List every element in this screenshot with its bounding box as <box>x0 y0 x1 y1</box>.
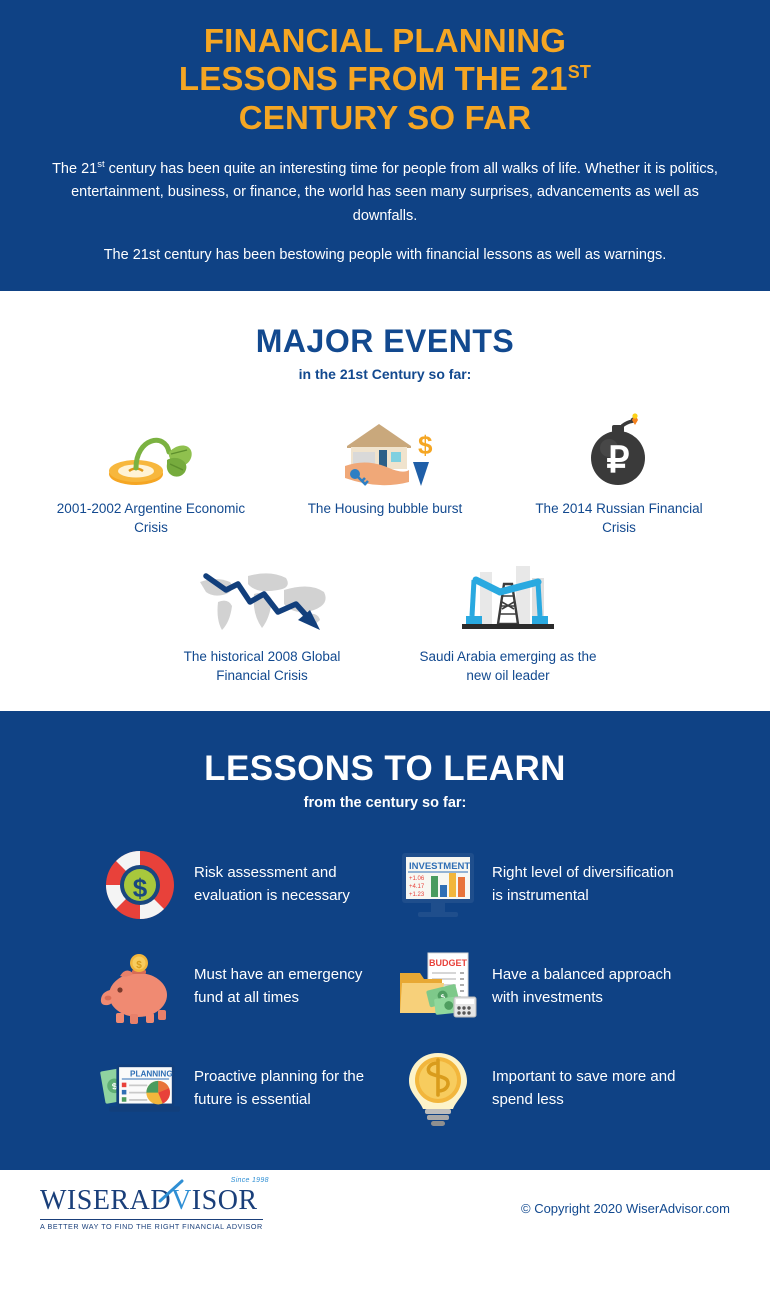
lesson-text: Important to save more and spend less <box>492 1066 680 1112</box>
lesson-item: $ Risk assessment and evaluation is nece… <box>100 845 382 925</box>
lifebuoy-dollar-icon: $ <box>100 845 180 925</box>
lesson-text: Right level of diversification is instru… <box>492 862 680 908</box>
event-item: 2001-2002 Argentine Economic Crisis <box>56 412 246 537</box>
logo-wiser-text: WISER <box>40 1185 130 1216</box>
major-events-row-2: The historical 2008 Global Financial Cri… <box>30 560 740 685</box>
svg-text:$: $ <box>136 960 142 971</box>
title-line-2-text: LESSONS FROM THE 21 <box>179 60 568 97</box>
house-dollar-icon: $ <box>333 412 437 490</box>
page-title: FINANCIAL PLANNING LESSONS FROM THE 21st… <box>40 22 730 137</box>
event-label: 2001-2002 Argentine Economic Crisis <box>56 499 246 537</box>
hero-paragraph-2: The 21st century has been bestowing peop… <box>40 244 730 267</box>
event-label: The Housing bubble burst <box>308 499 463 518</box>
event-label: The historical 2008 Global Financial Cri… <box>167 647 357 685</box>
event-item: ₽ The 2014 Russian Financial Crisis <box>524 412 714 537</box>
svg-text:₽: ₽ <box>607 439 630 480</box>
sprouting-coin-icon <box>103 412 199 490</box>
lesson-item: BUDGET <box>398 947 680 1027</box>
piggy-bank-icon: $ <box>100 947 180 1027</box>
footer: WISERADVISOR Since 1998 A BETTER WAY TO … <box>0 1170 770 1248</box>
lesson-text: Have a balanced approach with investment… <box>492 964 680 1010</box>
major-events-section: MAJOR EVENTS in the 21st Century so far: <box>0 291 770 711</box>
investment-monitor-icon: INVESTMENT +1.06 +4.17 +1.23 <box>398 845 478 925</box>
planning-laptop-icon: $ PLANNING <box>100 1049 180 1129</box>
lightbulb-coin-icon <box>398 1049 478 1129</box>
infographic-page: FINANCIAL PLANNING LESSONS FROM THE 21st… <box>0 0 770 1297</box>
lessons-grid: $ Risk assessment and evaluation is nece… <box>30 845 740 1129</box>
hero-section: FINANCIAL PLANNING LESSONS FROM THE 21st… <box>0 0 770 291</box>
oil-pump-icon <box>458 560 558 638</box>
lesson-text: Must have an emergency fund at all times <box>194 964 382 1010</box>
copyright-text: © Copyright 2020 WiserAdvisor.com <box>521 1201 730 1216</box>
major-events-subtitle: in the 21st Century so far: <box>30 366 740 382</box>
title-line-1: FINANCIAL PLANNING <box>40 22 730 60</box>
title-ordinal-suffix: st <box>568 62 591 82</box>
hero-paragraph-1: The 21st century has been quite an inter… <box>40 157 730 228</box>
monitor-value-1: +1.06 <box>409 876 425 882</box>
event-item: $ The Housing bubble burst <box>290 412 480 537</box>
lesson-item: $ PLANNING <box>100 1049 382 1129</box>
budget-folder-icon: BUDGET <box>398 947 478 1027</box>
budget-doc-title: BUDGET <box>429 958 468 968</box>
checkmark-icon <box>158 1179 184 1205</box>
hero-paragraph-1-post: century has been quite an interesting ti… <box>71 161 718 224</box>
lessons-section: LESSONS TO LEARN from the century so far… <box>0 711 770 1163</box>
logo-since-label: Since 1998 <box>231 1177 269 1184</box>
event-label: The 2014 Russian Financial Crisis <box>524 499 714 537</box>
lesson-text: Proactive planning for the future is ess… <box>194 1066 382 1112</box>
lessons-subtitle: from the century so far: <box>30 795 740 811</box>
event-item: Saudi Arabia emerging as the new oil lea… <box>413 560 603 685</box>
major-events-title: MAJOR EVENTS <box>30 323 740 360</box>
title-line-3: CENTURY SO FAR <box>40 99 730 137</box>
logo-isor-text: ISOR <box>192 1185 258 1216</box>
logo-wordmark: WISERADVISOR <box>40 1187 263 1215</box>
hero-ordinal-suffix: st <box>97 159 104 170</box>
logo-tagline: A BETTER WAY TO FIND THE RIGHT FINANCIAL… <box>40 1219 263 1230</box>
event-label: Saudi Arabia emerging as the new oil lea… <box>413 647 603 685</box>
lesson-text: Risk assessment and evaluation is necess… <box>194 862 382 908</box>
laptop-screen-title: PLANNING <box>130 1069 173 1078</box>
world-map-downtrend-icon <box>192 560 332 638</box>
event-item: The historical 2008 Global Financial Cri… <box>167 560 357 685</box>
monitor-screen-title: INVESTMENT <box>409 861 470 872</box>
major-events-row-1: 2001-2002 Argentine Economic Crisis $ <box>30 412 740 537</box>
monitor-value-2: +4.17 <box>409 884 425 890</box>
monitor-value-3: +1.23 <box>409 892 425 898</box>
lessons-title: LESSONS TO LEARN <box>30 749 740 789</box>
hero-paragraph-1-pre: The 21 <box>52 161 97 177</box>
svg-text:$: $ <box>133 873 148 903</box>
svg-text:$: $ <box>418 430 433 460</box>
title-line-2: LESSONS FROM THE 21st <box>40 60 730 98</box>
wiseradvisor-logo[interactable]: WISERADVISOR Since 1998 A BETTER WAY TO … <box>40 1187 263 1230</box>
lesson-item: INVESTMENT +1.06 +4.17 +1.23 Right level… <box>398 845 680 925</box>
ruble-bomb-icon: ₽ <box>580 412 658 490</box>
lesson-item: $ Must have an emergency fund at all tim… <box>100 947 382 1027</box>
lesson-item: Important to save more and spend less <box>398 1049 680 1129</box>
footer-divider-bar <box>0 1163 770 1170</box>
